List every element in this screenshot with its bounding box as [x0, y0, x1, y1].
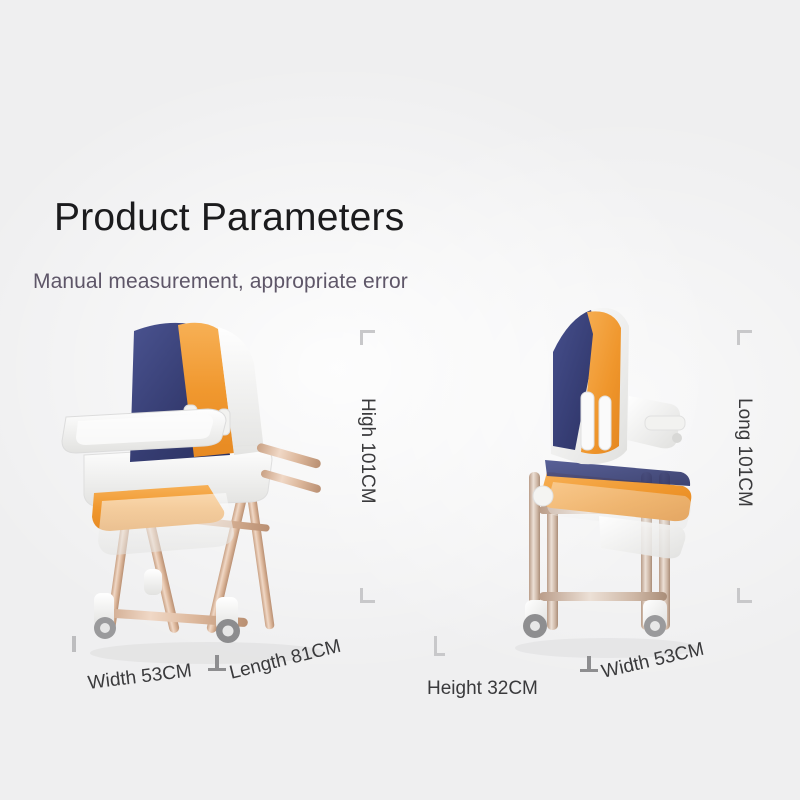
bracket-high-bottom: [360, 588, 375, 603]
tick-width-left: [72, 636, 76, 652]
dimension-label-height: Height 32CM: [427, 678, 538, 700]
perp-width-folded: [580, 656, 598, 672]
bracket-high-top: [360, 330, 375, 345]
page-subtitle: Manual measurement, appropriate error: [33, 270, 408, 294]
dimension-label-high: High 101CM: [356, 398, 378, 504]
bracket-height: [434, 636, 445, 656]
product-parameters-page: Product Parameters Manual measurement, a…: [0, 0, 800, 800]
page-title: Product Parameters: [54, 196, 404, 240]
high-chair-upright-view: [58, 305, 358, 665]
high-chair-folded-view: [495, 300, 725, 660]
bracket-long-top: [737, 330, 752, 345]
dimension-label-long: Long 101CM: [733, 398, 755, 507]
dimension-label-width-front: Width 53CM: [87, 660, 193, 695]
bracket-long-bottom: [737, 588, 752, 603]
perp-length: [208, 655, 226, 671]
